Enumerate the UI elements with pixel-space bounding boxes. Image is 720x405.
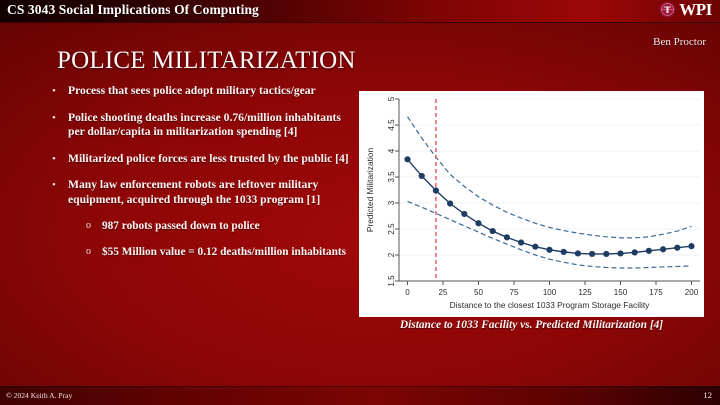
- svg-text:0: 0: [405, 288, 410, 297]
- svg-text:5: 5: [387, 96, 396, 101]
- sub-bullet-item: o 987 robots passed down to police: [86, 219, 352, 234]
- copyright-text: © 2024 Keith A. Pray: [6, 391, 72, 400]
- wpi-seal-icon: [659, 1, 676, 18]
- svg-text:50: 50: [474, 288, 483, 297]
- svg-text:2.5: 2.5: [387, 223, 396, 235]
- predicted-militarization-chart: 0255075100125150175200 1.522.533.544.55 …: [359, 91, 704, 317]
- bullet-text: Militarized police forces are less trust…: [68, 152, 352, 167]
- sub-bullet-marker-icon: o: [86, 245, 102, 260]
- presentation-slide: CS 3043 Social Implications Of Computing…: [0, 0, 720, 405]
- svg-text:1.5: 1.5: [387, 275, 396, 287]
- wpi-wordmark: WPI: [679, 1, 712, 18]
- chart-caption: Distance to 1033 Facility vs. Predicted …: [359, 319, 704, 331]
- page-number: 12: [703, 390, 712, 400]
- header-bar: CS 3043 Social Implications Of Computing…: [0, 0, 720, 23]
- chart-panel: 0255075100125150175200 1.522.533.544.55 …: [359, 91, 704, 317]
- svg-text:175: 175: [649, 288, 663, 297]
- bullet-item: • Militarized police forces are less tru…: [52, 152, 352, 167]
- wpi-logo: WPI: [659, 1, 712, 18]
- svg-text:25: 25: [439, 288, 448, 297]
- bullet-item: • Many law enforcement robots are leftov…: [52, 178, 352, 207]
- sub-bullet-list: o 987 robots passed down to police o $55…: [86, 219, 352, 259]
- bullet-marker-icon: •: [52, 152, 68, 167]
- svg-text:4: 4: [387, 148, 396, 153]
- svg-text:2: 2: [387, 252, 396, 257]
- bullet-text: Many law enforcement robots are leftover…: [68, 178, 352, 207]
- sub-bullet-text: 987 robots passed down to police: [102, 219, 352, 234]
- bullet-text: Police shooting deaths increase 0.76/mil…: [68, 111, 352, 140]
- bullet-list: • Process that sees police adopt militar…: [52, 84, 352, 270]
- chart-y-axis-label: Predicted Militarization: [365, 148, 375, 233]
- svg-text:3: 3: [387, 200, 396, 205]
- svg-text:150: 150: [614, 288, 628, 297]
- svg-text:125: 125: [578, 288, 592, 297]
- slide-title: POLICE MILITARIZATION: [57, 47, 356, 75]
- footer-bar: © 2024 Keith A. Pray 12: [0, 386, 720, 405]
- chart-x-axis-label: Distance to the closest 1033 Program Sto…: [450, 300, 651, 310]
- bullet-marker-icon: •: [52, 111, 68, 140]
- bullet-item: • Police shooting deaths increase 0.76/m…: [52, 111, 352, 140]
- bullet-marker-icon: •: [52, 178, 68, 207]
- sub-bullet-item: o $55 Million value = 0.12 deaths/millio…: [86, 245, 352, 260]
- svg-text:4.5: 4.5: [387, 119, 396, 131]
- svg-text:200: 200: [685, 288, 699, 297]
- svg-text:75: 75: [510, 288, 519, 297]
- bullet-text: Process that sees police adopt military …: [68, 84, 352, 99]
- svg-text:3.5: 3.5: [387, 171, 396, 183]
- sub-bullet-marker-icon: o: [86, 219, 102, 234]
- course-title: CS 3043 Social Implications Of Computing: [7, 2, 259, 18]
- bullet-item: • Process that sees police adopt militar…: [52, 84, 352, 99]
- svg-text:100: 100: [543, 288, 557, 297]
- author-name: Ben Proctor: [653, 36, 706, 48]
- sub-bullet-text: $55 Million value = 0.12 deaths/million …: [102, 245, 352, 260]
- bullet-marker-icon: •: [52, 84, 68, 99]
